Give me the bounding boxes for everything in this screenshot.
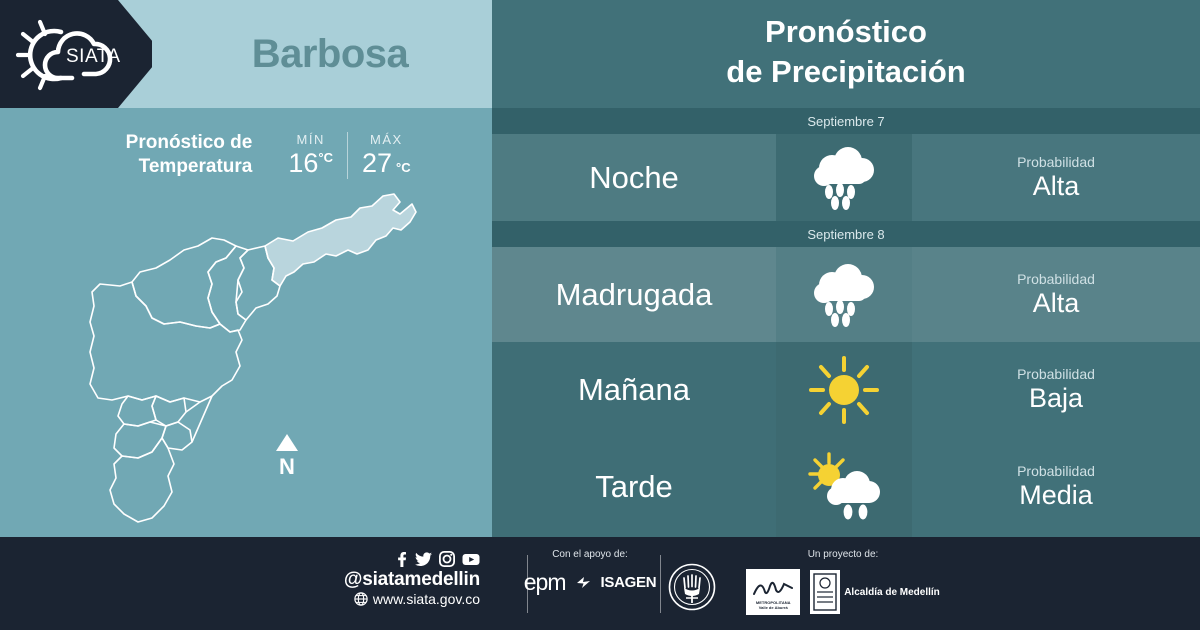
alcaldia-crest-icon: [810, 570, 840, 614]
temperature-min-unit: °C: [318, 150, 333, 165]
precipitation-title-line1: Pronóstico: [492, 12, 1200, 52]
universidad-nacional-seal-icon: [668, 563, 716, 611]
alcaldia-name: Alcaldía de Medellín: [844, 587, 940, 598]
temperature-min: MÍN 16°C: [274, 132, 347, 179]
probability-value: Alta: [1033, 288, 1080, 319]
siata-logo-block[interactable]: SIATA: [0, 0, 152, 108]
compass-north-label: N: [274, 457, 300, 478]
footer: @siatamedellin www.siata.gov.co Con el a…: [0, 537, 1200, 630]
temperature-summary: Pronóstico de Temperatura MÍN 16°C MÁX 2…: [0, 120, 492, 190]
map-region-divider-b: [192, 396, 212, 442]
forecast-row[interactable]: Madrugada Probabilidad Alta: [492, 247, 1200, 342]
temperature-min-value: 16°C: [288, 148, 333, 179]
instagram-icon[interactable]: [439, 551, 455, 567]
epm-logo[interactable]: epm: [524, 569, 566, 596]
forecast-period-cell: Tarde: [492, 437, 776, 537]
map-region-divider-a: [186, 402, 200, 412]
forecast-probability-cell: Probabilidad Alta: [912, 247, 1200, 342]
compass: N: [274, 434, 300, 478]
forecast-row[interactable]: Noche Probabilidad Alta: [492, 134, 1200, 221]
website-line[interactable]: www.siata.gov.co: [300, 591, 480, 607]
temperature-values: MÍN 16°C MÁX 27°C: [274, 132, 424, 179]
rain-cloud-icon: [808, 263, 880, 327]
left-body: Pronóstico de Temperatura MÍN 16°C MÁX 2…: [0, 108, 492, 537]
forecast-probability-cell: Probabilidad Media: [912, 437, 1200, 537]
city-name: Barbosa: [175, 0, 485, 108]
forecast-icon-cell: [776, 437, 912, 537]
social-icons: [300, 551, 480, 567]
temperature-title-line2: Temperatura: [67, 155, 252, 179]
date-divider-second: Septiembre 8: [492, 221, 1200, 247]
isagen-logo[interactable]: ISAGEN: [601, 574, 657, 591]
map-region-la-estrella: [114, 422, 166, 458]
project-label: Un proyecto de:: [718, 549, 968, 560]
twitter-icon[interactable]: [415, 551, 432, 567]
date-divider-first: Septiembre 7: [492, 108, 1200, 134]
forecast-probability-cell: Probabilidad Alta: [912, 134, 1200, 221]
temperature-title-line1: Pronóstico de: [67, 131, 252, 155]
map-region-caldas: [110, 438, 174, 522]
website-url: www.siata.gov.co: [373, 591, 480, 607]
svg-text:SIATA: SIATA: [66, 46, 121, 67]
left-header: SIATA Barbosa: [0, 0, 492, 108]
unal-logo[interactable]: [668, 563, 716, 616]
precipitation-title: Pronóstico de Precipitación: [492, 12, 1200, 91]
alcaldia-logo[interactable]: Alcaldía de Medellín: [810, 570, 940, 614]
footer-divider-2: [660, 555, 661, 613]
social-block: @siatamedellin www.siata.gov.co: [300, 551, 480, 607]
forecast-period-label: Mañana: [578, 372, 690, 408]
probability-label: Probabilidad: [1017, 271, 1095, 287]
compass-arrow-icon: [274, 434, 300, 452]
youtube-icon[interactable]: [462, 551, 480, 567]
support-group: Con el apoyo de: epm ISAGEN: [510, 549, 670, 596]
forecast-period-cell: Madrugada: [492, 247, 776, 342]
isagen-mark-icon: [576, 576, 591, 589]
medellin-crest-icon: [810, 570, 840, 614]
support-logos: epm ISAGEN: [510, 569, 670, 596]
area-metropolitana-logo[interactable]: METROPOLITANA Valle de Aburrá: [746, 569, 800, 615]
facebook-icon[interactable]: [394, 551, 408, 567]
temperature-max-unit: °C: [396, 160, 411, 175]
forecast-period-label: Noche: [589, 160, 679, 196]
forecast-period-cell: Noche: [492, 134, 776, 221]
temperature-min-label: MÍN: [288, 132, 333, 147]
probability-label: Probabilidad: [1017, 366, 1095, 382]
temperature-max-label: MÁX: [362, 132, 411, 147]
map-svg: [60, 184, 450, 534]
amva-name-line2: Valle de Aburrá: [759, 605, 788, 610]
temperature-title: Pronóstico de Temperatura: [67, 131, 252, 179]
left-panel: SIATA Barbosa Pronóstico de Temperatura …: [0, 0, 492, 537]
probability-label: Probabilidad: [1017, 154, 1095, 170]
support-label: Con el apoyo de:: [510, 549, 670, 560]
aburra-valley-map[interactable]: [60, 184, 450, 534]
probability-value: Media: [1019, 480, 1093, 511]
rain-cloud-icon: [808, 146, 880, 210]
temperature-max-value: 27°C: [362, 148, 411, 179]
social-handle[interactable]: @siatamedellin: [300, 569, 480, 591]
forecast-period-label: Madrugada: [556, 277, 713, 313]
probability-value: Baja: [1029, 383, 1083, 414]
map-region-copacabana: [208, 246, 248, 332]
globe-icon: [354, 592, 368, 606]
probability-label: Probabilidad: [1017, 463, 1095, 479]
forecast-probability-cell: Probabilidad Baja: [912, 342, 1200, 437]
forecast-icon-cell: [776, 247, 912, 342]
weather-forecast-poster: SIATA Barbosa Pronóstico de Temperatura …: [0, 0, 1200, 630]
precipitation-title-line2: de Precipitación: [492, 52, 1200, 92]
probability-value: Alta: [1033, 171, 1080, 202]
forecast-period-cell: Mañana: [492, 342, 776, 437]
forecast-row[interactable]: Mañana Probabilidad Baja: [492, 342, 1200, 437]
forecast-icon-cell: [776, 342, 912, 437]
sun-icon: [808, 356, 880, 424]
temperature-max: MÁX 27°C: [347, 132, 425, 179]
forecast-period-label: Tarde: [595, 469, 673, 505]
sun-rain-cloud-icon: [805, 452, 883, 522]
forecast-icon-cell: [776, 134, 912, 221]
project-logos: METROPOLITANA Valle de Aburrá Alcaldía: [718, 569, 968, 615]
sun-cloud-icon: SIATA: [14, 16, 126, 94]
precipitation-panel: Pronóstico de Precipitación Septiembre 7…: [492, 0, 1200, 537]
project-group: Un proyecto de: METROPOLITANA Valle de A…: [718, 549, 968, 615]
map-region-envigado: [152, 396, 186, 426]
map-region-bello: [132, 238, 236, 328]
map-region-medellin: [90, 282, 242, 402]
area-script-icon: [750, 574, 796, 600]
map-region-barbosa: [265, 194, 416, 286]
forecast-row[interactable]: Tarde: [492, 437, 1200, 537]
